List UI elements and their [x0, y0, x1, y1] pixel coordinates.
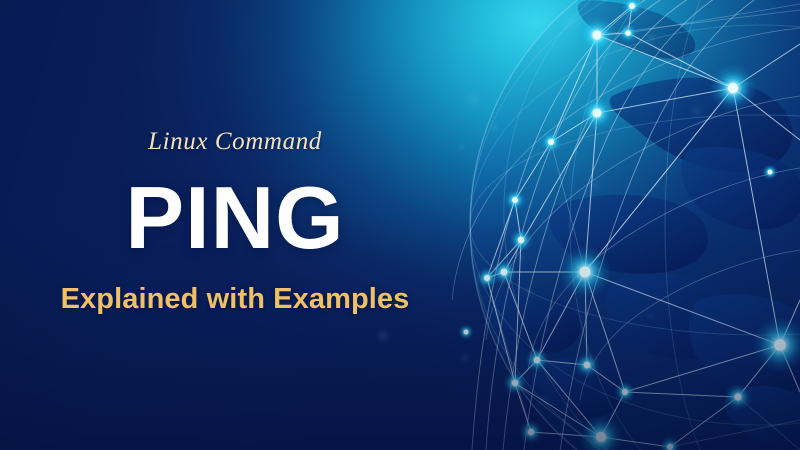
subtitle-label: Explained with Examples — [0, 283, 470, 316]
headline-block: Linux Command PING Explained with Exampl… — [0, 0, 470, 450]
ping-command-banner: Linux Command PING Explained with Exampl… — [0, 0, 800, 450]
page-title: PING — [0, 174, 470, 262]
eyebrow-label: Linux Command — [0, 128, 470, 156]
